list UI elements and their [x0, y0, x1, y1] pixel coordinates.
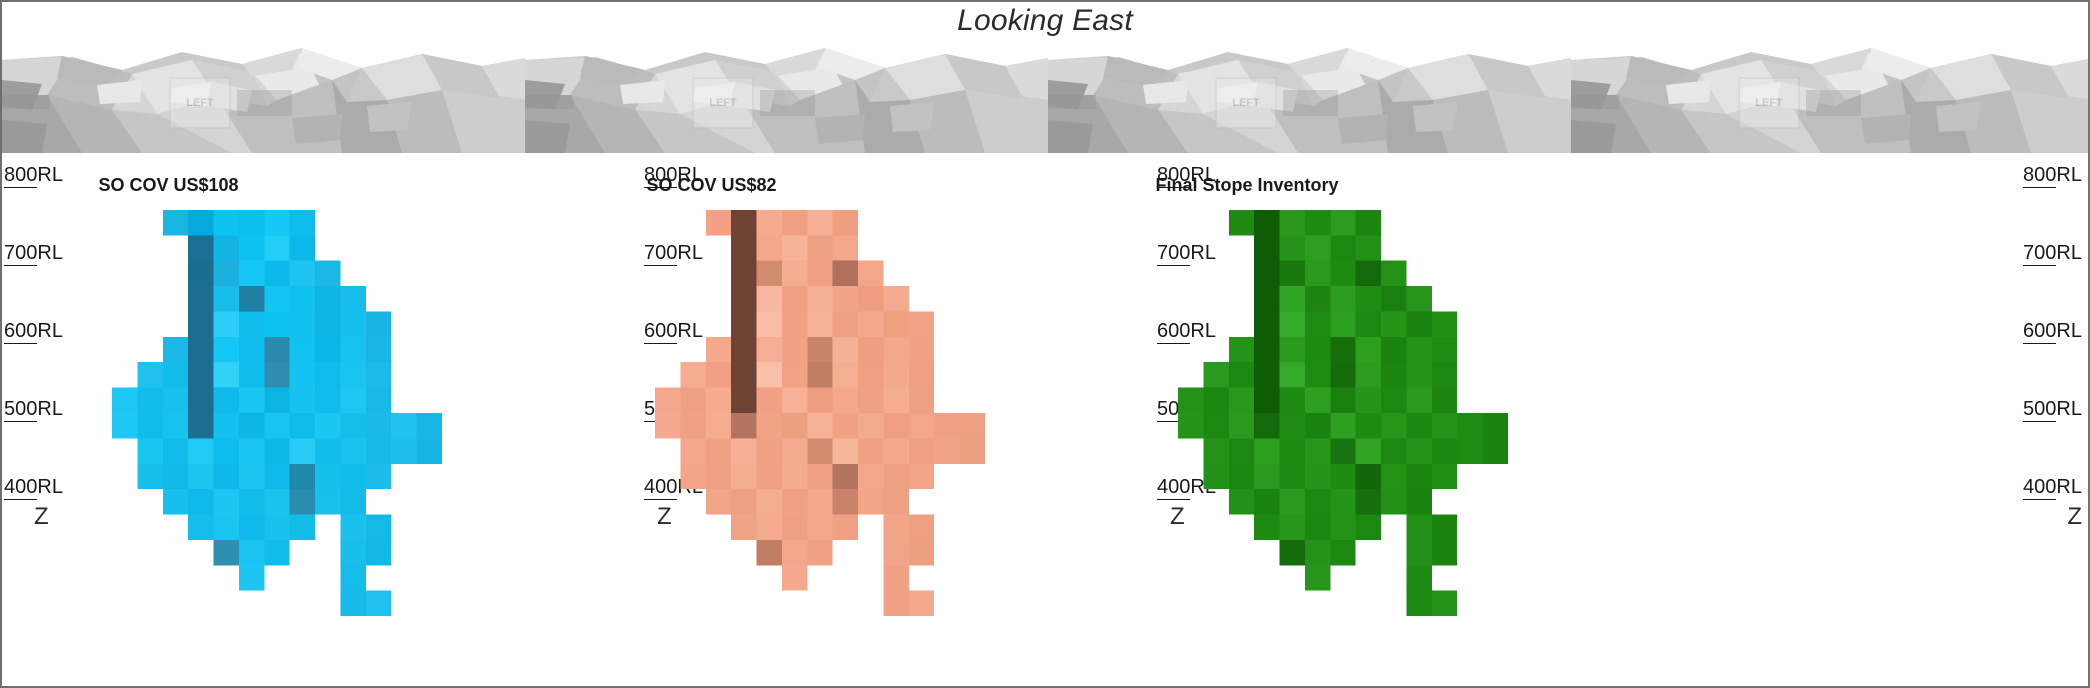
svg-text:LEFT: LEFT: [709, 97, 737, 109]
stope-block-model-icon: [655, 203, 985, 623]
stope-shape-final-inventory: [1178, 203, 1508, 623]
rl-axis-column-right: 800RL 700RL 600RL 500RL 400RL Z: [1948, 153, 2088, 688]
panel-title-so-cov-82: SO COV US$82: [525, 175, 1048, 196]
page-title: Looking East: [957, 4, 1133, 38]
z-axis-label: Z: [2067, 503, 2082, 531]
panel-so-cov-108: SO COV US$108: [2, 153, 525, 688]
rl-tick-700: 700RL: [2023, 242, 2082, 265]
stope-shape-so-cov-82: [655, 203, 985, 623]
panel-final-stope-inventory: Final Stope Inventory: [1048, 153, 1571, 688]
stope-block-model-icon: [112, 203, 442, 623]
section-plot-body: 800RL 700RL 600RL 500RL 400RL Z SO COV U…: [2, 153, 2090, 688]
rl-tick-400: 400RL: [2023, 476, 2082, 499]
figure-frame: Looking East: [0, 0, 2090, 688]
terrain-tile: LEFT: [1048, 40, 1571, 153]
figure-title-bar: Looking East: [2, 2, 2088, 40]
stope-shape-so-cov-108: [112, 203, 442, 623]
panel-title-final-stope-inventory: Final Stope Inventory: [1048, 175, 1571, 196]
rl-tick-500: 500RL: [2023, 398, 2082, 421]
svg-text:LEFT: LEFT: [1755, 97, 1783, 109]
terrain-tile: LEFT: [525, 40, 1048, 153]
terrain-tile: LEFT: [1571, 40, 2090, 153]
stope-block-model-icon: [1178, 203, 1508, 623]
terrain-relief-icon: LEFT: [525, 40, 1048, 153]
rl-tick-800: 800RL: [2023, 164, 2082, 187]
panel-so-cov-82: SO COV US$82: [525, 153, 1048, 688]
terrain-tile: LEFT: [2, 40, 525, 153]
terrain-relief-icon: LEFT: [2, 40, 525, 153]
svg-text:LEFT: LEFT: [1232, 97, 1260, 109]
rl-tick-600: 600RL: [2023, 320, 2082, 343]
terrain-relief-icon: LEFT: [1048, 40, 1571, 153]
panel-title-so-cov-108: SO COV US$108: [2, 175, 525, 196]
terrain-relief-icon: LEFT: [1571, 40, 2090, 153]
topographic-surface-strip: LEFT: [2, 40, 2090, 153]
svg-text:LEFT: LEFT: [186, 97, 214, 109]
